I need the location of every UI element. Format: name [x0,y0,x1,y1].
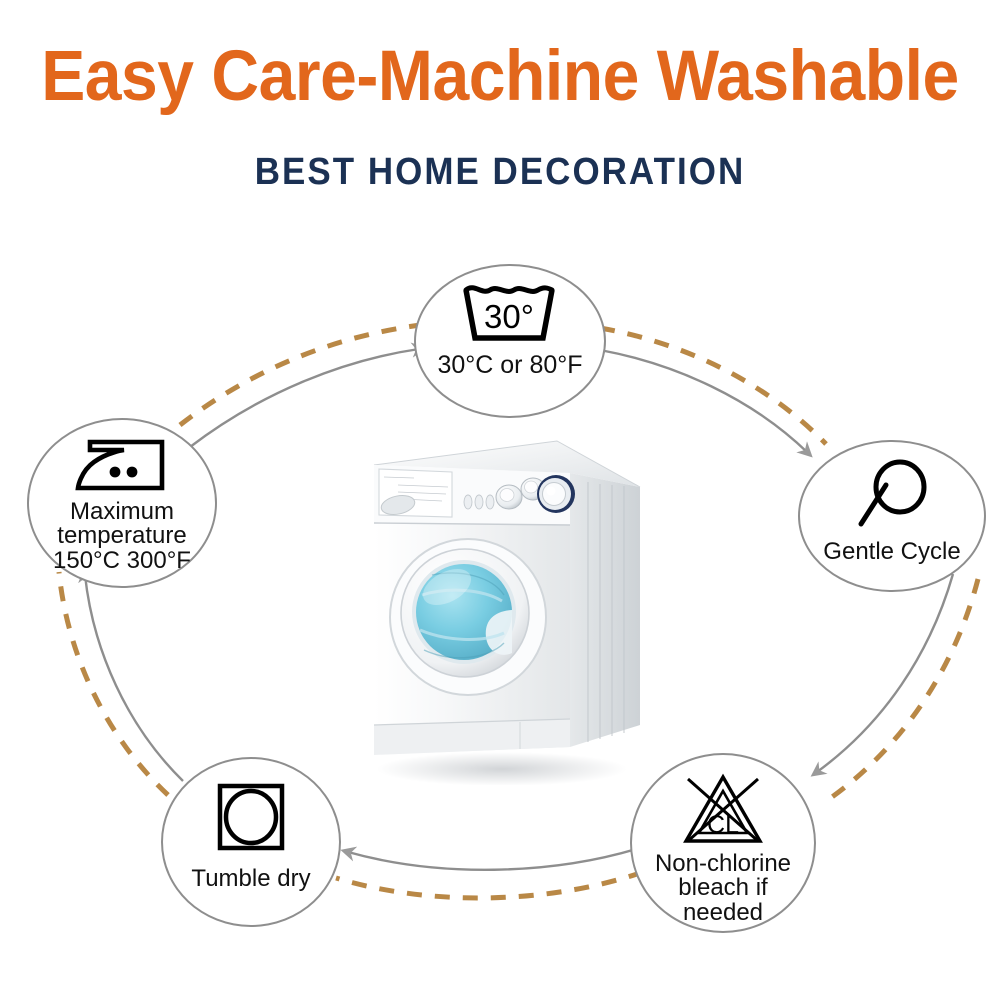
care-node-iron[interactable]: Maximum temperature 150°C 300°F [27,418,217,588]
machine-shadow [377,752,627,785]
care-node-tumble-dry-label: Tumble dry [191,867,310,891]
arrow-bleach-to-tumble [348,847,643,870]
dashed-arc-iron-wash [180,325,421,425]
care-node-wash[interactable]: 30° 30°C or 80°F [414,264,606,418]
arrow-tumble-to-iron [85,575,183,781]
care-cycle-diagram: 30° 30°C or 80°F Gentle Cycle CL Non-chl… [0,0,1000,1000]
arrow-gentle-to-bleach [817,574,953,772]
care-node-bleach-label: Non-chlorine bleach if needed [655,852,791,925]
care-node-iron-label: Maximum temperature 150°C 300°F [53,500,191,573]
program-knob-1[interactable] [496,485,522,509]
care-node-bleach[interactable]: CL Non-chlorine bleach if needed [630,753,816,933]
care-node-gentle-cycle-label: Gentle Cycle [823,540,960,564]
non-chlorine-bleach-icon: CL [677,771,769,851]
detergent-drawer [379,469,452,517]
care-node-wash-label: 30°C or 80°F [437,353,582,379]
washing-machine [352,425,657,785]
dashed-arc-bleach-tumble [336,872,643,898]
wash-temp-value: 30° [484,298,534,335]
dashed-arc-tumble-iron [59,572,168,795]
wash-tub-30-icon: 30° [458,280,562,346]
machine-side-panel [570,473,640,747]
machine-door[interactable] [390,539,546,695]
care-node-gentle-cycle[interactable]: Gentle Cycle [798,440,986,592]
dashed-arc-gentle-bleach [832,579,978,797]
infographic-page: Easy Care-Machine Washable BEST HOME DEC… [0,0,1000,1000]
iron-two-dots-icon [68,436,176,494]
bleach-cl-text: CL [707,811,739,839]
main-selector-dial[interactable] [537,475,575,513]
tumble-dry-icon [212,781,290,853]
gentle-cycle-icon [853,458,931,532]
care-node-tumble-dry[interactable]: Tumble dry [161,757,341,927]
panel-buttons[interactable] [464,495,494,509]
